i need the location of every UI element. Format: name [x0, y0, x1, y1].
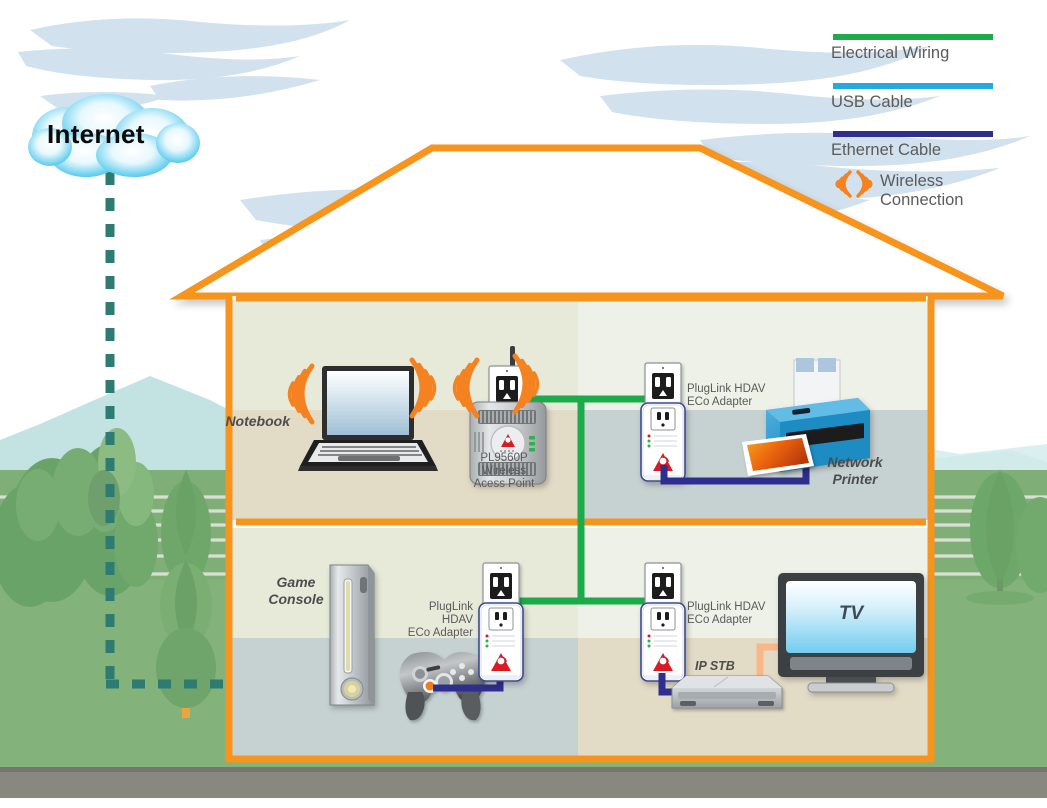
- tree-right-of-dash: [88, 470, 120, 526]
- printer-label-line2: Printer: [800, 471, 910, 488]
- network-diagram-canvas: Internet Notebook PL9560P Wireless Acess…: [0, 0, 1047, 808]
- television-icon: [778, 573, 924, 692]
- powerline-adapter-icon: [641, 563, 685, 681]
- ip-stb-label-text: IP STB: [695, 659, 735, 673]
- console-label-line2: Console: [244, 591, 348, 608]
- console-label-line1: Game: [244, 574, 348, 591]
- adapter-bottom-left-label: PlugLink HDAV ECo Adapter: [395, 601, 473, 640]
- adapter-br-label-line2: ECo Adapter: [687, 614, 797, 627]
- legend-label-usb-cable: USB Cable: [831, 93, 913, 112]
- adapter-tr-label-line2: ECo Adapter: [687, 396, 797, 409]
- set-top-box-icon: [672, 676, 782, 708]
- road-shadow: [0, 767, 1047, 772]
- notebook-label: Notebook: [210, 415, 290, 428]
- legend-label-electrical-wiring: Electrical Wiring: [831, 44, 949, 63]
- access-point-label-line1: PL9560P: [444, 452, 564, 465]
- page-bottom: [0, 798, 1047, 808]
- access-point-label: PL9560P Wireless Acess Point: [444, 452, 564, 491]
- legend-label-wireless-connection: Wireless Connection: [880, 172, 963, 210]
- game-console-label: Game Console: [244, 574, 348, 608]
- printer-label: Network Printer: [800, 454, 910, 488]
- adapter-tr-label-line1: PlugLink HDAV: [687, 383, 797, 396]
- powerline-adapter-icon: [479, 563, 523, 681]
- access-point-label-line2: Wireless: [444, 465, 564, 478]
- printer-label-line1: Network: [800, 454, 910, 471]
- powerline-adapter-icon: [641, 363, 685, 481]
- notebook-label-text: Notebook: [225, 413, 290, 429]
- legend-swatch-electrical: [833, 34, 993, 40]
- adapter-br-label-line1: PlugLink HDAV: [687, 601, 797, 614]
- tv-label: TV: [828, 603, 874, 625]
- legend-wireless-line2: Connection: [880, 191, 963, 210]
- legend-label-ethernet-cable: Ethernet Cable: [831, 141, 941, 160]
- tv-label-text: TV: [839, 603, 863, 624]
- legend-swatch-ethernet: [833, 131, 993, 137]
- ip-stb-label: IP STB: [695, 659, 735, 673]
- internet-cloud-label: Internet: [47, 119, 145, 150]
- access-point-label-line3: Acess Point: [444, 478, 564, 491]
- adapter-bottom-right-label: PlugLink HDAV ECo Adapter: [687, 601, 797, 627]
- legend-wireless-line1: Wireless: [880, 172, 963, 191]
- adapter-top-right-label: PlugLink HDAV ECo Adapter: [687, 383, 797, 409]
- adapter-bl-label-line2: ECo Adapter: [395, 627, 473, 640]
- adapter-bl-label-line1: PlugLink HDAV: [395, 601, 473, 627]
- legend-swatch-usb: [833, 83, 993, 89]
- room-bottom-left-floor: [230, 638, 578, 758]
